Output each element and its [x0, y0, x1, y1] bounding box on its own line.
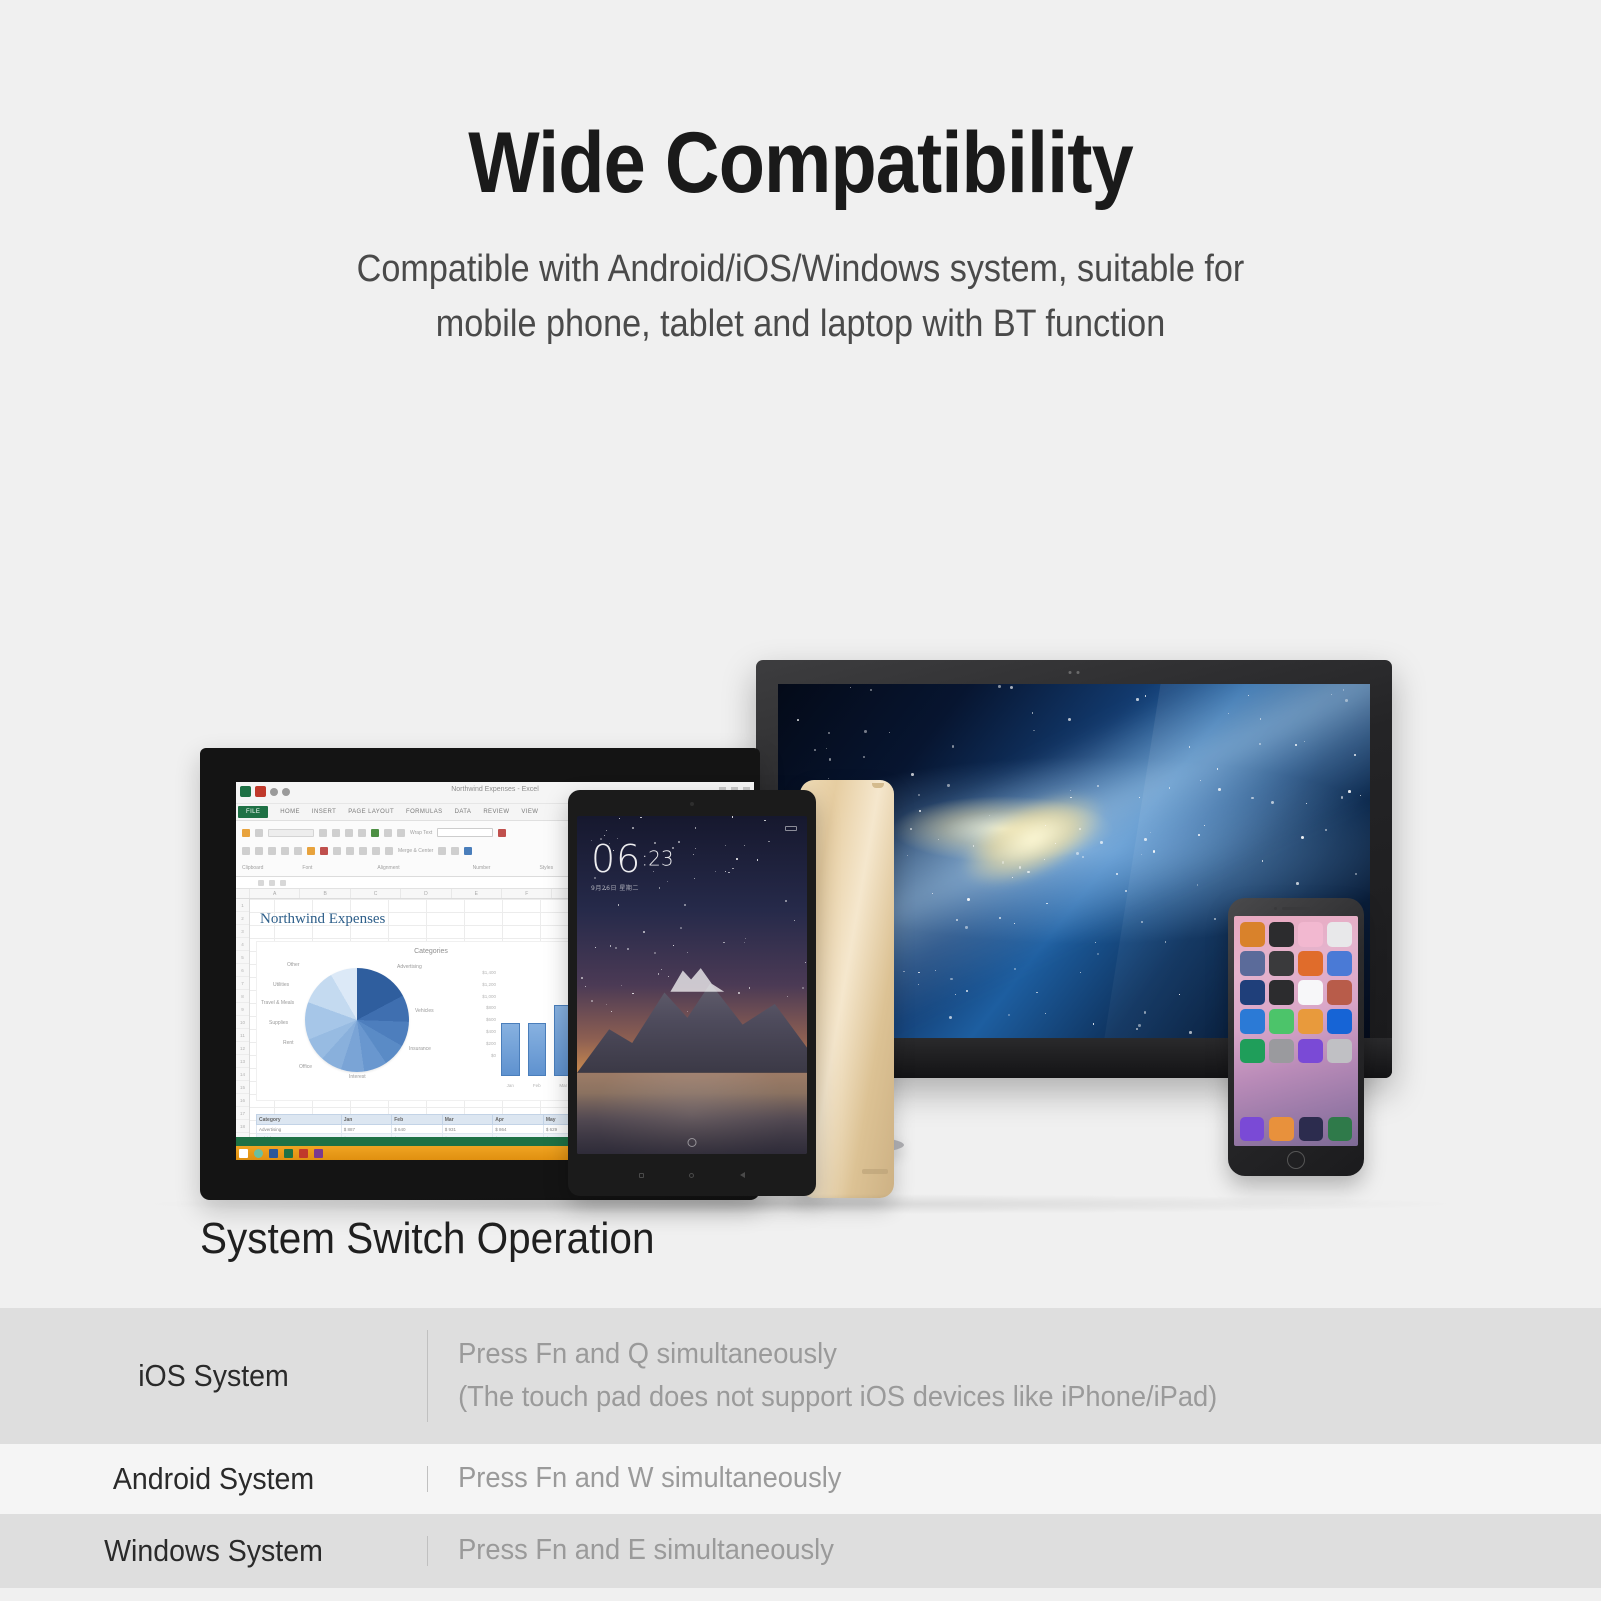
table-column-header: Jan	[341, 1115, 392, 1125]
paste-icon[interactable]	[242, 829, 250, 837]
tab-view[interactable]: VIEW	[521, 809, 538, 815]
start-icon[interactable]	[239, 1149, 248, 1158]
star	[621, 985, 622, 986]
star	[967, 898, 970, 901]
star	[1033, 730, 1035, 732]
dock-app-icon[interactable]	[1240, 1117, 1264, 1141]
decrease-font-icon[interactable]	[345, 829, 353, 837]
star	[1095, 942, 1096, 943]
row-header[interactable]: 14	[236, 1068, 249, 1081]
star	[785, 900, 787, 902]
android-navigation-bar[interactable]	[568, 1164, 816, 1186]
table-cell: $ 931	[442, 1125, 493, 1134]
row-value-windows: Press Fn and E simultaneously	[428, 1529, 834, 1573]
clock-minute: :23	[641, 847, 673, 871]
group-label-number: Number	[473, 865, 491, 871]
gold-tablet-base-detail	[862, 1169, 888, 1174]
dock-app-icon[interactable]	[1269, 1117, 1293, 1141]
align-center-icon[interactable]	[346, 847, 354, 855]
app-icon[interactable]	[1240, 1039, 1265, 1064]
star	[632, 827, 634, 829]
app-icon[interactable]	[1327, 951, 1352, 976]
app-icon[interactable]	[1327, 922, 1352, 947]
app-icon[interactable]	[1327, 1039, 1352, 1064]
app-icon[interactable]	[1240, 922, 1265, 947]
table-cell: $ 864	[493, 1125, 544, 1134]
star	[606, 830, 607, 831]
star	[955, 994, 956, 995]
group-label-clipboard: Clipboard	[242, 865, 263, 871]
star	[744, 845, 745, 846]
star	[989, 815, 990, 816]
y-tick: $800	[471, 1005, 499, 1017]
star	[1189, 1031, 1191, 1033]
tab-home[interactable]: HOME	[280, 809, 300, 815]
star	[693, 854, 694, 855]
app-icon[interactable]	[1298, 980, 1323, 1005]
star	[725, 871, 726, 872]
app-icon[interactable]	[1240, 1009, 1265, 1034]
onenote-icon[interactable]	[314, 1149, 323, 1158]
star	[1097, 953, 1099, 955]
pie-label-vehicles: Vehicles	[415, 1008, 434, 1014]
cancel-edit-icon[interactable]	[258, 880, 264, 886]
border-icon[interactable]	[294, 847, 302, 855]
star	[1080, 972, 1081, 973]
row-header[interactable]: 17	[236, 1107, 249, 1120]
tab-file[interactable]: FILE	[238, 806, 268, 818]
align-middle-icon[interactable]	[371, 829, 379, 837]
page-subtitle: Compatible with Android/iOS/Windows syst…	[80, 242, 1521, 351]
app-icon[interactable]	[1269, 951, 1294, 976]
floor-shadow	[150, 1194, 1450, 1214]
row-header[interactable]: 15	[236, 1081, 249, 1094]
tab-page-layout[interactable]: PAGE LAYOUT	[348, 809, 394, 815]
star	[950, 978, 952, 980]
star	[1355, 873, 1357, 875]
row-label-ios: iOS System	[17, 1358, 410, 1394]
row-header[interactable]: 4	[236, 938, 249, 951]
star	[684, 904, 686, 906]
star	[1032, 712, 1034, 714]
column-header[interactable]	[236, 889, 250, 898]
y-tick: $0	[471, 1053, 499, 1065]
app-icon[interactable]	[1269, 922, 1294, 947]
dock-app-icon[interactable]	[1299, 1117, 1323, 1141]
phone-earpiece-icon	[1282, 907, 1310, 910]
column-header[interactable]: D	[401, 889, 451, 898]
align-right-icon[interactable]	[359, 847, 367, 855]
star	[715, 871, 716, 872]
star	[1296, 882, 1299, 885]
excel-icon[interactable]	[284, 1149, 293, 1158]
wrap-text-icon[interactable]	[397, 829, 405, 837]
star	[610, 945, 611, 946]
currency-icon[interactable]	[438, 847, 446, 855]
pie-label-utilities: Utilities	[273, 982, 289, 988]
star	[1343, 689, 1344, 690]
cut-icon[interactable]	[255, 829, 263, 837]
wallpaper-mountain	[577, 958, 807, 1073]
app-icon[interactable]	[1298, 951, 1323, 976]
star	[661, 969, 662, 970]
chart-bar	[501, 1023, 520, 1076]
monitor-camera-icon	[1069, 671, 1080, 674]
pie-label-other: Other	[287, 962, 300, 968]
y-tick: $200	[471, 1041, 499, 1053]
star	[826, 748, 827, 749]
star	[911, 773, 914, 776]
star	[802, 987, 804, 989]
pie-label-travel-meals: Travel & Meals	[261, 1000, 294, 1006]
star	[1325, 829, 1327, 831]
page-header: Wide Compatibility Compatible with Andro…	[0, 0, 1601, 351]
star	[965, 926, 967, 928]
ios-instruction-line-1: Press Fn and Q simultaneously	[458, 1333, 1217, 1377]
page-title: Wide Compatibility	[96, 118, 1505, 208]
pie-label-office: Office	[299, 1064, 312, 1070]
star	[764, 820, 765, 821]
lock-screen-date: 9月26日 星期二	[591, 883, 674, 892]
star	[732, 816, 734, 818]
star	[828, 732, 830, 734]
star	[1217, 768, 1218, 769]
pie-label-interest: Interest	[349, 1074, 366, 1080]
star	[619, 818, 621, 820]
star	[591, 1000, 593, 1002]
star	[1138, 1024, 1141, 1027]
row-header[interactable]: 9	[236, 1003, 249, 1016]
star	[632, 993, 633, 994]
app-icon[interactable]	[1298, 1009, 1323, 1034]
star	[1262, 860, 1263, 861]
app-icon[interactable]	[1298, 922, 1323, 947]
y-tick: $400	[471, 1029, 499, 1041]
row-value-android: Press Fn and W simultaneously	[428, 1457, 841, 1501]
row-header[interactable]: 18	[236, 1120, 249, 1133]
wallpaper-snowcap	[655, 968, 724, 992]
star	[1100, 841, 1103, 844]
star	[604, 835, 605, 836]
star	[966, 990, 968, 992]
star	[673, 945, 674, 946]
star	[1189, 746, 1190, 747]
star	[643, 931, 645, 933]
dock-app-icon[interactable]	[1328, 1117, 1352, 1141]
star	[1301, 836, 1304, 839]
star	[695, 827, 697, 829]
percent-icon[interactable]	[451, 847, 459, 855]
browser-icon[interactable]	[254, 1149, 263, 1158]
table-row-ios: iOS System Press Fn and Q simultaneously…	[0, 1308, 1601, 1444]
star	[1144, 838, 1147, 841]
star	[952, 745, 954, 747]
row-value-ios: Press Fn and Q simultaneously (The touch…	[428, 1333, 1217, 1420]
star	[694, 878, 695, 879]
pie-chart: Other Utilities Travel & Meals Supplies …	[305, 968, 409, 1072]
star	[1014, 923, 1015, 924]
star	[797, 719, 799, 721]
row-header[interactable]: 3	[236, 925, 249, 938]
x-tick: Jan	[501, 1083, 520, 1088]
star	[738, 992, 740, 994]
star	[615, 947, 617, 949]
star	[1144, 1011, 1147, 1014]
star	[1136, 698, 1138, 700]
fill-color-icon[interactable]	[307, 847, 315, 855]
home-button[interactable]	[689, 1173, 694, 1178]
star	[1348, 790, 1351, 793]
pie-label-insurance: Insurance	[409, 1046, 431, 1052]
merge-center-label: Merge & Center	[398, 848, 433, 854]
star	[678, 841, 680, 843]
tab-review[interactable]: REVIEW	[483, 809, 509, 815]
increase-font-icon[interactable]	[332, 829, 340, 837]
star	[932, 893, 933, 894]
column-header[interactable]: C	[351, 889, 401, 898]
row-header[interactable]: 10	[236, 1016, 249, 1029]
star	[618, 904, 619, 905]
star	[829, 758, 832, 761]
star	[1068, 718, 1071, 721]
star	[1027, 871, 1029, 873]
star	[725, 845, 726, 846]
star	[658, 973, 660, 975]
table-row-android: Android System Press Fn and W simultaneo…	[0, 1444, 1601, 1514]
star	[1008, 1014, 1010, 1016]
star	[606, 1004, 607, 1005]
star	[1019, 866, 1021, 868]
row-header[interactable]: 5	[236, 951, 249, 964]
row-header[interactable]: 16	[236, 1094, 249, 1107]
star	[728, 872, 730, 874]
star	[1331, 694, 1332, 695]
tablet-lock-screen: 06:23 9月26日 星期二	[577, 816, 807, 1154]
star	[1169, 787, 1171, 789]
indent-increase-icon[interactable]	[385, 847, 393, 855]
table-column-header: Mar	[442, 1115, 493, 1125]
star	[864, 730, 867, 733]
worksheet-title: Northwind Expenses	[260, 911, 385, 928]
star	[736, 858, 738, 860]
row-label-android: Android System	[17, 1461, 410, 1497]
star	[935, 970, 936, 971]
star	[1079, 828, 1080, 829]
insert-function-icon[interactable]	[280, 880, 286, 886]
row-header[interactable]: 8	[236, 990, 249, 1003]
star	[787, 996, 788, 997]
column-header[interactable]: B	[300, 889, 350, 898]
table-column-header: Category	[257, 1115, 342, 1125]
star	[687, 1011, 688, 1012]
orientation-icon[interactable]	[384, 829, 392, 837]
star	[805, 962, 806, 963]
smartphone	[1228, 898, 1364, 1176]
star	[910, 828, 912, 830]
app-icon[interactable]	[1240, 980, 1265, 1005]
star	[732, 868, 733, 869]
table-cell: $ 640	[392, 1125, 443, 1134]
bold-icon[interactable]	[255, 847, 263, 855]
star	[595, 947, 596, 948]
star	[828, 778, 829, 779]
expenses-chart[interactable]: Categories Other Utilities Travel & Meal…	[256, 941, 606, 1101]
star	[654, 952, 656, 954]
group-label-font: Font	[302, 865, 312, 871]
italic-icon[interactable]	[268, 847, 276, 855]
row-header[interactable]: 7	[236, 977, 249, 990]
tab-formulas[interactable]: FORMULAS	[406, 809, 443, 815]
app-icon[interactable]	[1327, 980, 1352, 1005]
star	[627, 948, 629, 950]
star	[1136, 1028, 1138, 1030]
unlock-icon[interactable]	[688, 1138, 697, 1147]
conditional-formatting-icon[interactable]	[498, 829, 506, 837]
table-row-windows: Windows System Press Fn and E simultaneo…	[0, 1514, 1601, 1588]
star	[1354, 754, 1356, 756]
star	[757, 859, 759, 861]
star	[999, 917, 1000, 918]
section-heading: System Switch Operation	[200, 1214, 654, 1264]
back-button[interactable]	[740, 1172, 745, 1178]
font-name-box[interactable]	[268, 829, 314, 837]
subtitle-line-1: Compatible with Android/iOS/Windows syst…	[80, 242, 1521, 296]
star	[1214, 918, 1216, 920]
phone-home-button[interactable]	[1287, 1151, 1305, 1169]
star	[949, 1016, 952, 1019]
row-header[interactable]: 13	[236, 1055, 249, 1068]
y-tick: $1,200	[471, 982, 499, 994]
align-top-icon[interactable]	[358, 829, 366, 837]
star	[1228, 713, 1229, 714]
pie-label-advertising: Advertising	[397, 964, 422, 970]
app-icon[interactable]	[1327, 1009, 1352, 1034]
row-header[interactable]: 12	[236, 1042, 249, 1055]
phone-app-grid[interactable]	[1240, 922, 1352, 1063]
star	[1093, 1023, 1094, 1024]
star	[918, 794, 920, 796]
device-showcase: Northwind Expenses - Excel FILE HOME INS…	[0, 640, 1601, 1210]
star	[870, 689, 871, 690]
number-format-select[interactable]	[437, 828, 493, 837]
phone-home-screen	[1234, 916, 1358, 1146]
format-table-icon[interactable]	[464, 847, 472, 855]
confirm-edit-icon[interactable]	[269, 880, 275, 886]
indent-decrease-icon[interactable]	[372, 847, 380, 855]
star	[1145, 695, 1146, 696]
star	[1345, 699, 1348, 702]
column-header[interactable]: F	[502, 889, 552, 898]
font-size-box[interactable]	[319, 829, 327, 837]
row-header[interactable]: 2	[236, 912, 249, 925]
star	[947, 784, 949, 786]
row-header[interactable]: 1	[236, 899, 249, 912]
app-icon[interactable]	[1240, 951, 1265, 976]
star	[745, 938, 746, 939]
star	[1295, 744, 1297, 746]
star	[998, 685, 1001, 688]
powerpoint-icon[interactable]	[299, 1149, 308, 1158]
star	[1179, 994, 1180, 995]
star	[640, 817, 642, 819]
star	[1304, 741, 1305, 742]
recents-button[interactable]	[639, 1173, 644, 1178]
tablet-front-camera-icon	[690, 802, 694, 806]
ios-instruction-line-2: (The touch pad does not support iOS devi…	[458, 1376, 1217, 1420]
column-header[interactable]: A	[250, 889, 300, 898]
group-label-alignment: Alignment	[377, 865, 399, 871]
app-icon[interactable]	[1298, 1039, 1323, 1064]
pie-label-supplies: Supplies	[269, 1020, 288, 1026]
star	[863, 756, 866, 759]
star	[1197, 884, 1198, 885]
align-left-icon[interactable]	[333, 847, 341, 855]
star	[687, 952, 689, 954]
table-cell: Advertising	[257, 1125, 342, 1134]
battery-icon	[785, 826, 797, 831]
star	[1036, 992, 1037, 993]
app-icon[interactable]	[1269, 980, 1294, 1005]
star	[1165, 941, 1166, 942]
star	[1045, 1013, 1047, 1015]
android-tablet: 06:23 9月26日 星期二	[568, 790, 816, 1196]
tab-data[interactable]: DATA	[455, 809, 472, 815]
underline-icon[interactable]	[281, 847, 289, 855]
x-tick: Feb	[528, 1083, 547, 1088]
star	[850, 687, 851, 688]
app-icon[interactable]	[1269, 1039, 1294, 1064]
pie-chart-slices	[305, 968, 409, 1072]
star	[611, 1011, 612, 1012]
star	[695, 848, 696, 849]
word-icon[interactable]	[269, 1149, 278, 1158]
star	[814, 749, 816, 751]
star	[938, 839, 939, 840]
star	[581, 977, 583, 979]
star	[1306, 803, 1307, 804]
star	[1082, 856, 1084, 858]
pie-label-rent: Rent	[283, 1040, 294, 1046]
star	[768, 841, 769, 842]
tab-insert[interactable]: INSERT	[312, 809, 336, 815]
y-tick: $600	[471, 1017, 499, 1029]
row-header[interactable]: 6	[236, 964, 249, 977]
star	[749, 987, 750, 988]
gold-tablet-notch	[872, 783, 884, 788]
chart-title: Categories	[257, 948, 605, 955]
star	[680, 927, 682, 929]
system-switch-table: iOS System Press Fn and Q simultaneously…	[0, 1308, 1601, 1588]
star	[1014, 968, 1016, 970]
row-headers[interactable]: 123456789101112131415161718192021222324	[236, 899, 250, 1160]
font-color-icon[interactable]	[320, 847, 328, 855]
copy-icon[interactable]	[242, 847, 250, 855]
star	[1198, 834, 1200, 836]
row-header[interactable]: 11	[236, 1029, 249, 1042]
star	[1076, 852, 1079, 855]
phone-front-camera-icon	[1274, 907, 1277, 910]
phone-dock[interactable]	[1240, 1117, 1352, 1141]
star	[918, 972, 920, 974]
app-icon[interactable]	[1269, 1009, 1294, 1034]
star	[1010, 686, 1013, 689]
lock-screen-clock: 06:23 9月26日 星期二	[591, 840, 674, 892]
y-tick: $1,400	[471, 970, 499, 982]
star	[668, 976, 669, 977]
column-header[interactable]: E	[452, 889, 502, 898]
star	[744, 942, 745, 943]
clock-hour: 06	[591, 837, 641, 881]
